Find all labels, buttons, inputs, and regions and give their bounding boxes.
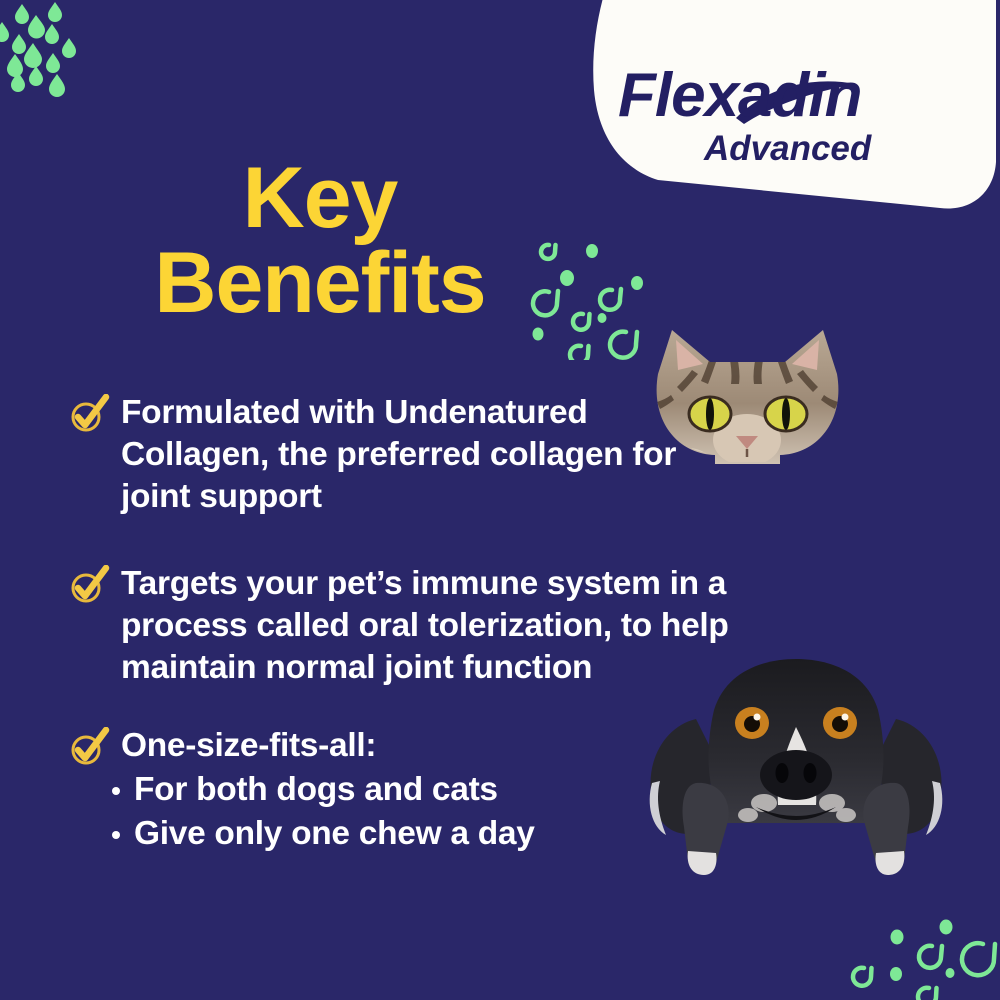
page-title-line-2: Benefits [110, 241, 530, 326]
svg-text:Advanced: Advanced [703, 129, 872, 168]
check-circle-icon [68, 565, 110, 605]
list-item: Formulated with Undenatured Collagen, th… [68, 392, 748, 519]
page-title-line-1: Key [110, 156, 530, 241]
green-swirls-cluster-bottom-icon [840, 900, 1000, 1000]
benefit-text: One-size-fits-all: [121, 725, 376, 767]
benefit-text: Formulated with Undenatured Collagen, th… [121, 392, 721, 519]
list-item: One-size-fits-all: For both dogs and cat… [68, 725, 748, 856]
flexadin-advanced-logo: Flexadin Advanced [618, 60, 948, 170]
benefit-sub-list: For both dogs and cats Give only one che… [68, 768, 748, 856]
product-benefits-poster: Flexadin Advanced Key Benefits [0, 0, 1000, 1000]
check-circle-icon [68, 394, 110, 434]
svg-text:Flexadin: Flexadin [618, 61, 862, 130]
list-item: Targets your pet’s immune system in a pr… [68, 563, 748, 690]
benefit-text: Targets your pet’s immune system in a pr… [121, 563, 748, 690]
page-title: Key Benefits [110, 156, 530, 326]
green-droplets-cluster-icon [0, 0, 130, 115]
sub-list-item: Give only one chew a day [110, 812, 748, 856]
benefits-list: Formulated with Undenatured Collagen, th… [68, 392, 748, 856]
check-circle-icon [68, 727, 110, 767]
sub-list-item: For both dogs and cats [110, 768, 748, 812]
